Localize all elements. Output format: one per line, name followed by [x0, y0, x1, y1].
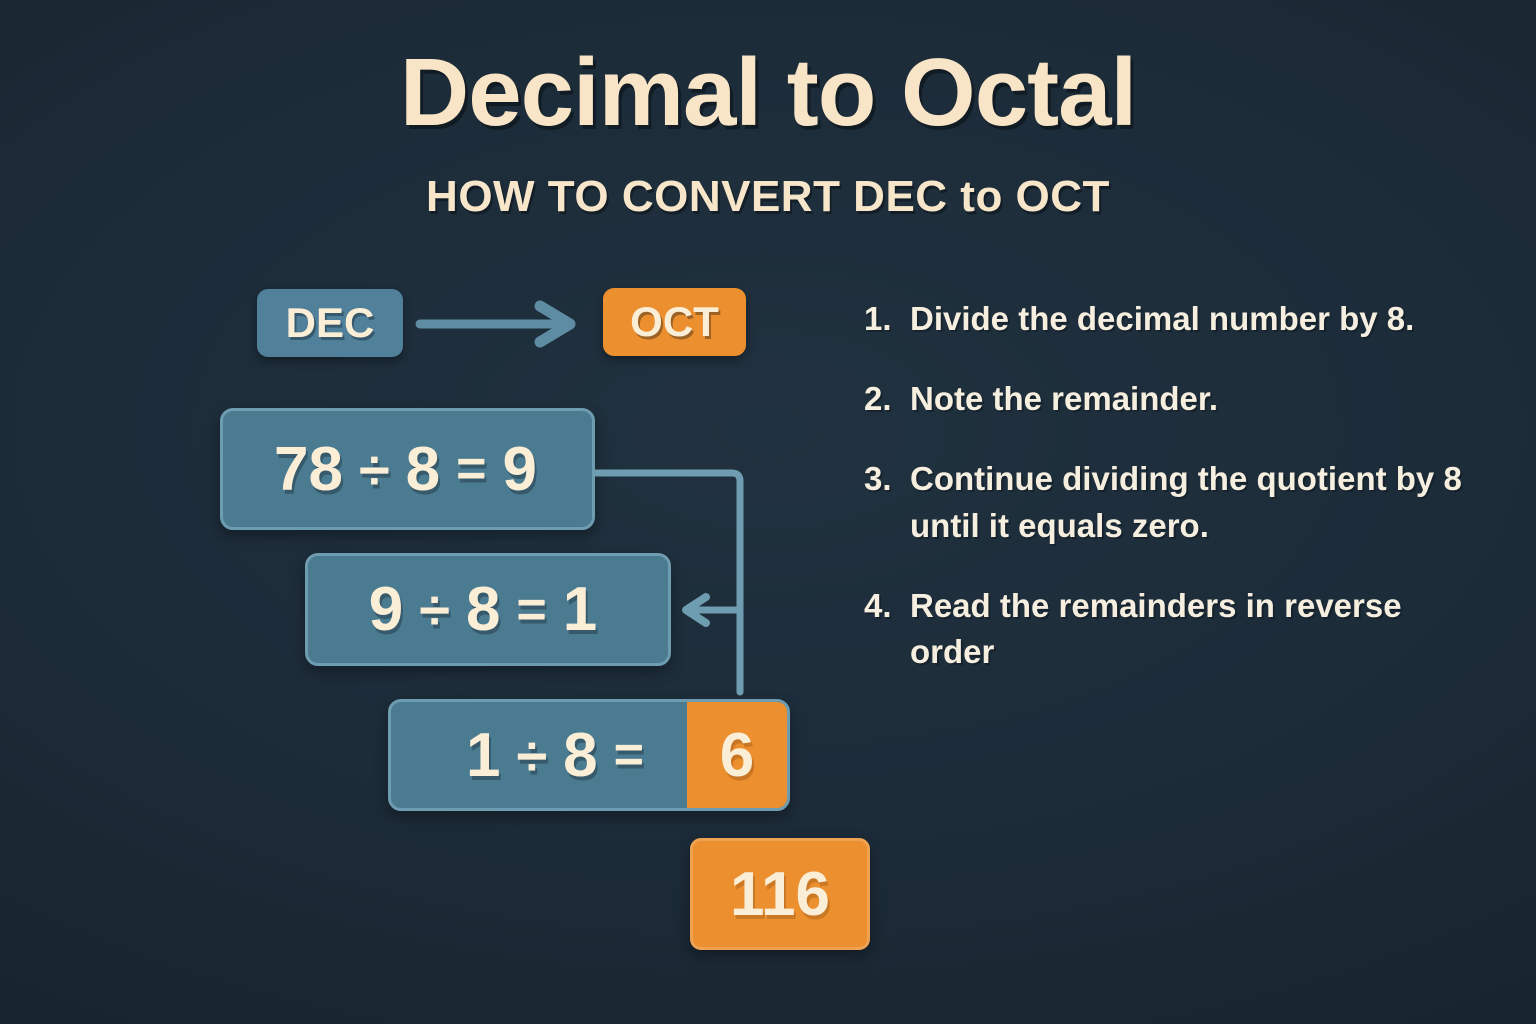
instruction-text: Note the remainder. [910, 376, 1494, 422]
dividend: 9 [369, 574, 403, 645]
divide-operator: ÷ [359, 437, 390, 502]
instruction-text: Read the remainders in reverse order [910, 583, 1494, 675]
divide-operator: ÷ [516, 723, 547, 788]
division-expression: 78 ÷ 8 = 9 [223, 434, 592, 505]
quotient: 9 [503, 434, 537, 505]
dividend: 78 [274, 434, 343, 505]
dec-badge-label: DEC [286, 299, 375, 347]
instruction-item: 1. Divide the decimal number by 8. [864, 296, 1494, 342]
instruction-text: Divide the decimal number by 8. [910, 296, 1494, 342]
division-step-row: 9 ÷ 8 = 1 [305, 553, 671, 666]
dividend: 1 [466, 720, 500, 791]
page-subtitle: HOW TO CONVERT DEC to OCT [0, 172, 1536, 222]
oct-badge-label: OCT [630, 298, 719, 346]
instructions-list: 1. Divide the decimal number by 8. 2. No… [864, 296, 1494, 709]
arrow-right-icon [410, 296, 590, 352]
division-expression: 9 ÷ 8 = 1 [308, 574, 668, 645]
page-title: Decimal to Octal [0, 38, 1536, 148]
instruction-number: 2. [864, 376, 910, 422]
instruction-item: 2. Note the remainder. [864, 376, 1494, 422]
equals-operator: = [516, 580, 546, 640]
instruction-item: 4. Read the remainders in reverse order [864, 583, 1494, 675]
equals-operator: = [614, 725, 644, 785]
instruction-number: 4. [864, 583, 910, 629]
divisor: 8 [406, 434, 440, 505]
divide-operator: ÷ [419, 577, 450, 642]
result-value: 116 [730, 859, 830, 930]
instruction-item: 3. Continue dividing the quotient by 8 u… [864, 456, 1494, 548]
oct-badge: OCT [603, 288, 746, 356]
instruction-number: 1. [864, 296, 910, 342]
remainder-value: 6 [720, 720, 754, 791]
remainder-highlight: 6 [687, 702, 787, 808]
division-step-row: 1 ÷ 8 = 6 [388, 699, 790, 811]
quotient: 1 [563, 574, 597, 645]
divisor: 8 [563, 720, 597, 791]
instruction-number: 3. [864, 456, 910, 502]
infographic-canvas: Decimal to Octal HOW TO CONVERT DEC to O… [0, 0, 1536, 1024]
dec-badge: DEC [257, 289, 403, 357]
result-badge: 116 [690, 838, 870, 950]
division-expression: 1 ÷ 8 = [391, 720, 687, 791]
equals-operator: = [456, 439, 486, 499]
divisor: 8 [466, 574, 500, 645]
instruction-text: Continue dividing the quotient by 8 unti… [910, 456, 1494, 548]
division-step-row: 78 ÷ 8 = 9 [220, 408, 595, 530]
